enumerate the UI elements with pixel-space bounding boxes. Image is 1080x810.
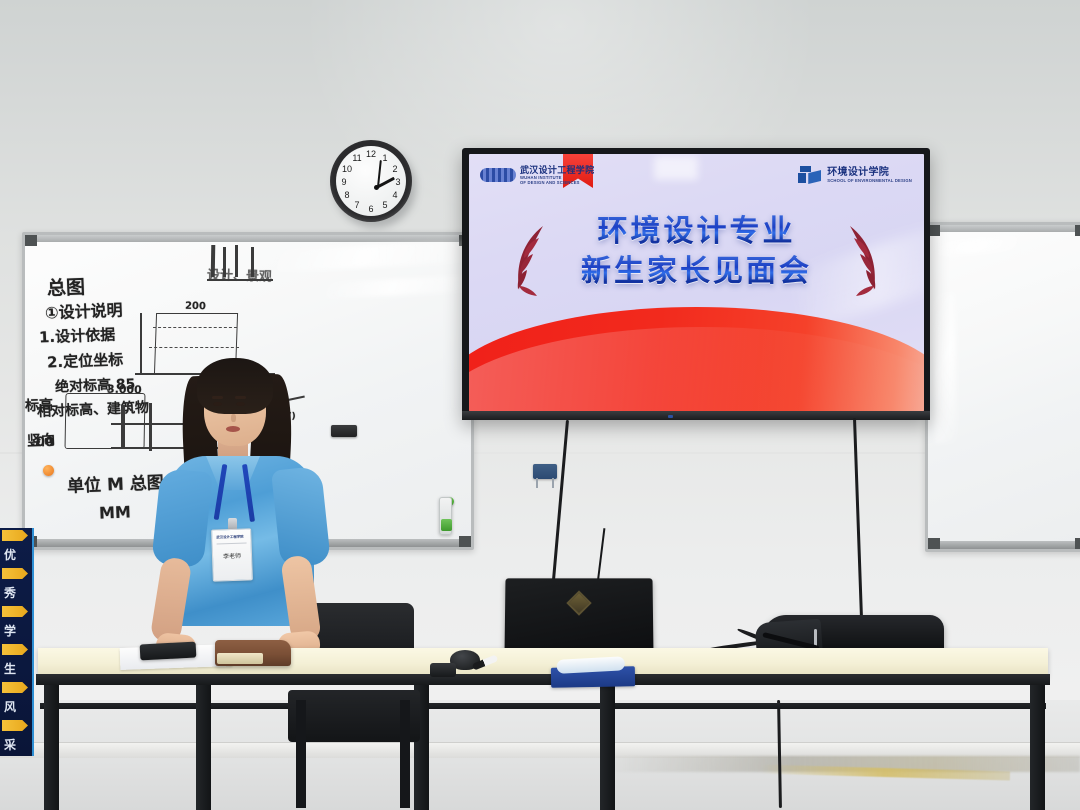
banner-arrow-icon	[2, 568, 28, 579]
whiteboard-top-frame	[25, 235, 471, 242]
badge-org-name: 武汉设计工程学院	[216, 534, 246, 540]
desk-front-edge	[36, 674, 1050, 685]
display-screen: 武汉设计工程学院 WUHAN INSTITUTE OF DESIGN AND S…	[469, 154, 924, 411]
clock-center-pin	[374, 185, 379, 190]
wall-data-socket	[533, 464, 557, 479]
wb-note-3: 2.定位坐标	[47, 349, 124, 373]
whiteboard-eraser-magnet[interactable]	[331, 425, 357, 437]
school-logo: 环境设计学院 SCHOOL OF ENVIRONMENTAL DESIGN	[798, 165, 912, 185]
wb-sketch-dash-1	[153, 327, 237, 328]
presenter-arm-right	[280, 554, 322, 643]
whiteboard-corner-tr	[1075, 225, 1080, 236]
banner-arrow-icon	[2, 644, 28, 655]
wb-sketch-label-1: 200	[185, 301, 206, 313]
slide-title-line-1: 环境设计专业	[469, 212, 924, 252]
university-name-cn: 武汉设计工程学院	[520, 165, 594, 175]
blue-booklet[interactable]	[551, 666, 635, 687]
id-badge: 武汉设计工程学院 李老师	[211, 528, 253, 581]
whiteboard-corner-br	[1075, 538, 1080, 549]
presenter: 武汉设计工程学院 李老师	[150, 352, 330, 667]
whiteboard-glare-1	[275, 240, 474, 272]
clock-numeral-12: 12	[365, 148, 377, 160]
banner-row: 学	[0, 604, 32, 642]
marker-pen[interactable]	[439, 497, 452, 535]
wb-sketch-dash-2	[149, 347, 239, 348]
whiteboard-glare-2	[933, 293, 958, 443]
banner-row: 生	[0, 642, 32, 680]
presenter-mouth	[226, 426, 240, 432]
wb-sketch-stroke	[235, 245, 238, 277]
clock-numeral-8: 8	[341, 189, 353, 201]
clock-numeral-10: 10	[341, 163, 353, 175]
wb-sketch-stroke	[211, 245, 216, 277]
screen-glare-top	[654, 156, 698, 180]
classroom-scene: 12 1 2 3 4 5 6 7 8 9 10 11 总图 ①设计说明 1.设	[0, 0, 1080, 810]
banner-arrow-icon	[2, 682, 28, 693]
clock-numeral-2: 2	[389, 163, 401, 175]
presenter-brow-right	[235, 396, 246, 399]
desk-leg-2	[196, 685, 211, 810]
clock-numeral-6: 6	[365, 203, 377, 215]
banner-text-0: 优	[4, 546, 16, 563]
desk-cross-rail	[40, 703, 1046, 709]
presenter-nose	[231, 414, 236, 422]
banner-row: 采	[0, 718, 32, 756]
wb-sketch-baseline	[207, 279, 273, 281]
wb-note-9: MM	[99, 502, 132, 522]
wb-sketch-plan-box	[65, 393, 146, 449]
clock-numeral-5: 5	[379, 199, 391, 211]
left-wall-banner: 优 秀 学 生 风 采	[0, 528, 34, 756]
banner-text-5: 采	[4, 736, 16, 753]
presenter-eye-right	[236, 402, 245, 406]
wb-sketch-label-5: .00	[31, 435, 54, 451]
laptop[interactable]	[505, 578, 654, 654]
whiteboard-bottom-frame	[928, 541, 1080, 549]
right-whiteboard[interactable]	[925, 222, 1080, 552]
whiteboard-corner-br	[459, 536, 471, 547]
chair-leg-left	[296, 700, 306, 808]
badge-divider	[217, 542, 247, 544]
banner-text-3: 生	[4, 660, 16, 677]
clock-numeral-11: 11	[351, 152, 363, 164]
presenter-eye-left	[213, 402, 222, 406]
slide-title-line-2: 新生家长见面会	[469, 252, 924, 292]
wb-sketch-label-0: 设计、景观	[207, 264, 272, 285]
banner-row: 秀	[0, 566, 32, 604]
clock-numeral-9: 9	[338, 176, 350, 188]
university-logo: 武汉设计工程学院 WUHAN INSTITUTE OF DESIGN AND S…	[480, 165, 594, 185]
banner-row: 风	[0, 680, 32, 718]
wb-sketch-stroke	[251, 247, 254, 277]
banner-text-4: 风	[4, 698, 16, 715]
presenter-brow-left	[212, 396, 223, 399]
orange-magnet[interactable]	[43, 465, 54, 476]
leather-notebook[interactable]	[215, 640, 291, 666]
university-logo-mark-icon	[480, 168, 516, 182]
banner-arrow-icon	[2, 606, 28, 617]
wb-note-2: 1.设计依据	[39, 324, 116, 348]
presenter-hair-top	[197, 358, 273, 414]
smartphone[interactable]	[140, 642, 197, 661]
university-name-en-2: OF DESIGN AND SCIENCES	[520, 180, 594, 185]
wb-note-1: ①设计说明	[45, 297, 123, 324]
wb-note-6: 标高	[25, 394, 54, 415]
presenter-sleeve-left	[151, 468, 213, 569]
banner-text-2: 学	[4, 622, 16, 639]
wall-clock: 12 1 2 3 4 5 6 7 8 9 10 11	[330, 140, 416, 226]
presenter-sleeve-right	[271, 466, 331, 569]
badge-person-name: 李老师	[217, 550, 247, 560]
remote-control[interactable]	[430, 663, 456, 677]
school-name-cn: 环境设计学院	[827, 168, 912, 178]
chair-leg-right	[400, 700, 410, 808]
whiteboard-glare-2	[325, 275, 474, 299]
school-name-en: SCHOOL OF ENVIRONMENTAL DESIGN	[827, 178, 912, 183]
banner-text-1: 秀	[4, 584, 16, 601]
banner-row: 优	[0, 528, 32, 566]
clock-face: 12 1 2 3 4 5 6 7 8 9 10 11	[336, 146, 406, 216]
desk-leg-4	[600, 685, 615, 810]
whiteboard-corner-tl	[25, 235, 37, 246]
wb-note-0: 总图	[46, 272, 85, 300]
presentation-display[interactable]: 武汉设计工程学院 WUHAN INSTITUTE OF DESIGN AND S…	[462, 148, 930, 420]
wb-sketch-stroke	[223, 247, 226, 277]
school-logo-mark-icon	[798, 165, 822, 185]
laptop-brand-logo-icon	[566, 590, 591, 615]
banner-arrow-icon	[2, 720, 28, 731]
banner-arrow-icon	[2, 530, 28, 541]
slide-title-block: 环境设计专业 新生家长见面会	[469, 212, 924, 292]
whiteboard-glare-1	[936, 235, 1021, 256]
wb-sketch-dim-line	[140, 313, 142, 373]
display-bottom-bezel	[462, 411, 930, 420]
whiteboard-corner-bl	[928, 538, 940, 549]
desk-leg-1	[44, 685, 59, 810]
presenter-arm-left	[150, 556, 193, 644]
desk-leg-5	[1030, 685, 1045, 810]
whiteboard-top-frame	[928, 225, 1080, 232]
display-power-led	[668, 415, 673, 418]
